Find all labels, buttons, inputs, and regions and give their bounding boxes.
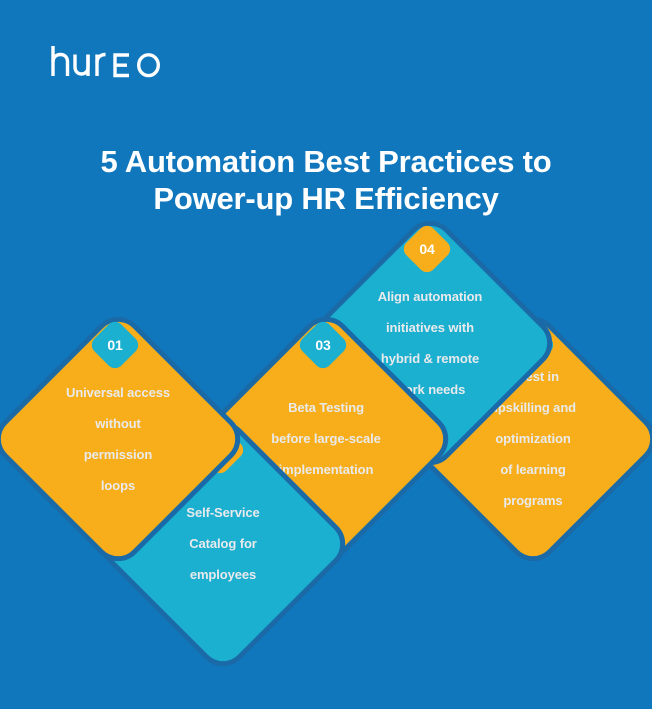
steps-diagram: Universal access without permission loop…	[0, 0, 652, 709]
step-number: 03	[304, 326, 342, 364]
step-number: 04	[408, 230, 446, 268]
step-number-badge: 03	[304, 326, 342, 364]
step-number-badge: 04	[408, 230, 446, 268]
step-diamond-01[interactable]: Universal access without permission loop…	[24, 345, 212, 533]
step-number-badge: 01	[96, 326, 134, 364]
step-number: 01	[96, 326, 134, 364]
